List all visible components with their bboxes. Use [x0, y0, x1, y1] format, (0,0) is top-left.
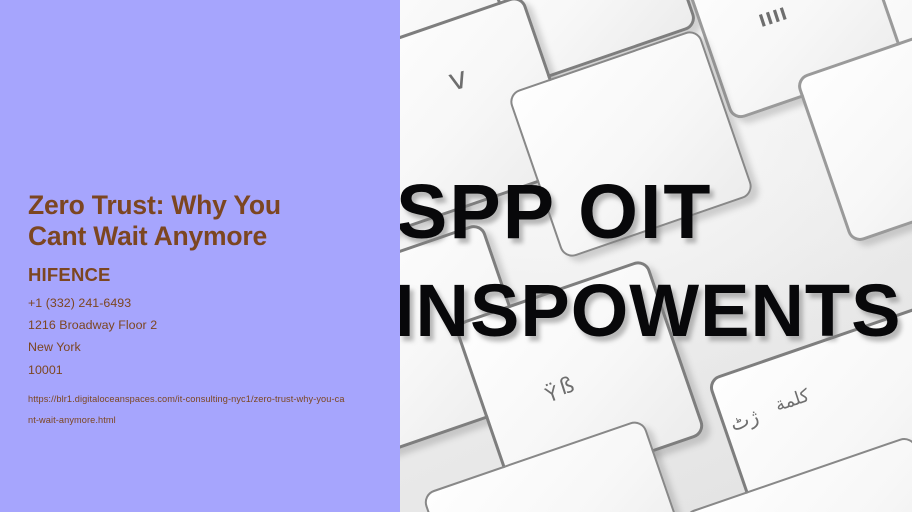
city-name: New York [28, 336, 380, 358]
preview-card: Zero Trust: Why You Cant Wait Anymore HI… [0, 0, 912, 512]
source-url[interactable]: https://blr1.digitaloceanspaces.com/it-c… [28, 389, 348, 431]
street-address: 1216 Broadway Floor 2 [28, 314, 380, 336]
page-title: Zero Trust: Why You Cant Wait Anymore [28, 190, 380, 252]
info-panel-content: Zero Trust: Why You Cant Wait Anymore HI… [28, 190, 380, 431]
postal-code: 10001 [28, 359, 380, 381]
hero-headline-line-1: SPP OIT [400, 168, 712, 257]
phone-number[interactable]: +1 (332) 241-6493 [28, 292, 380, 314]
article-hero-image: v IIII ß كلمة Ÿ ژٹ [400, 0, 912, 512]
hero-headline-line-2: INSPOWENTS [400, 268, 901, 353]
brand-name: HIFENCE [28, 265, 380, 285]
info-panel: Zero Trust: Why You Cant Wait Anymore HI… [0, 0, 400, 512]
